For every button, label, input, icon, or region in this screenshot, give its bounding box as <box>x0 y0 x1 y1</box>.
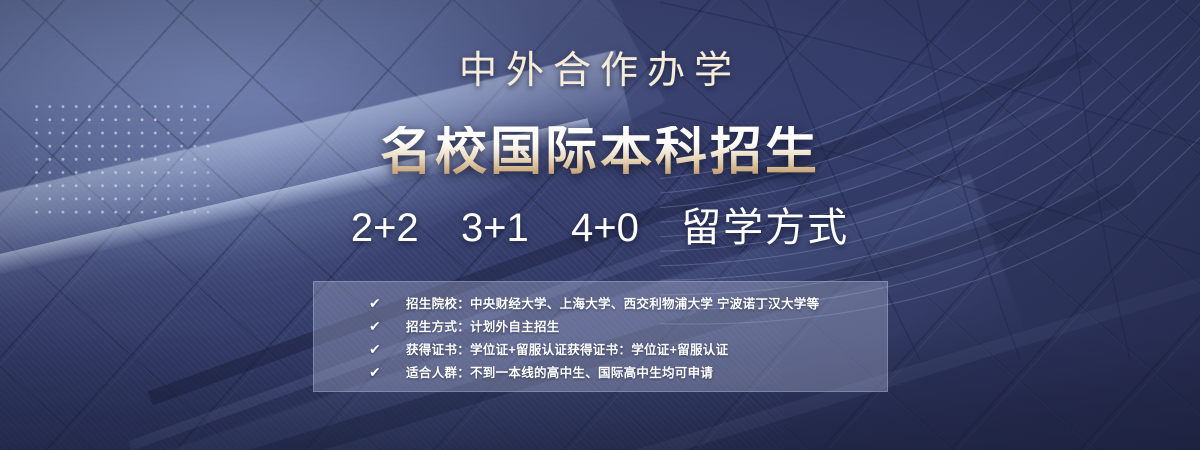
list-item: ✔招生院校：中央财经大学、上海大学、西交利物浦大学 宁波诺丁汉大学等 <box>314 291 887 314</box>
banner-headline: 名校国际本科招生 <box>0 126 1200 178</box>
list-item-label: 适合人群：不到一本线的高中生、国际高中生均可申请 <box>369 362 713 381</box>
study-mode-1: 2+2 <box>351 206 419 250</box>
study-mode-3: 4+0 <box>571 206 639 250</box>
list-item-label: 招生方式：计划外自主招生 <box>369 316 560 335</box>
list-item-label: 招生院校：中央财经大学、上海大学、西交利物浦大学 宁波诺丁汉大学等 <box>369 293 819 312</box>
study-mode-2: 3+1 <box>461 206 529 250</box>
promo-banner: 中外合作办学 名校国际本科招生 2+2 3+1 4+0 留学方式 ✔招生院校：中… <box>0 0 1200 450</box>
list-item: ✔适合人群：不到一本线的高中生、国际高中生均可申请 <box>314 360 887 383</box>
banner-script-title: 中外合作办学 <box>0 52 1200 90</box>
list-item: ✔获得证书：学位证+留服认证获得证书：学位证+留服认证 <box>314 337 887 360</box>
check-icon: ✔ <box>369 342 387 356</box>
banner-subline: 2+2 3+1 4+0 留学方式 <box>0 208 1200 248</box>
check-icon: ✔ <box>369 319 387 333</box>
info-panel: ✔招生院校：中央财经大学、上海大学、西交利物浦大学 宁波诺丁汉大学等✔招生方式：… <box>313 281 888 392</box>
check-icon: ✔ <box>369 296 387 310</box>
study-abroad-label: 留学方式 <box>681 206 849 250</box>
banner-content: 中外合作办学 名校国际本科招生 2+2 3+1 4+0 留学方式 ✔招生院校：中… <box>0 0 1200 450</box>
check-icon: ✔ <box>369 365 387 379</box>
list-item-label: 获得证书：学位证+留服认证获得证书：学位证+留服认证 <box>369 339 728 358</box>
info-list: ✔招生院校：中央财经大学、上海大学、西交利物浦大学 宁波诺丁汉大学等✔招生方式：… <box>314 282 887 383</box>
list-item: ✔招生方式：计划外自主招生 <box>314 314 887 337</box>
